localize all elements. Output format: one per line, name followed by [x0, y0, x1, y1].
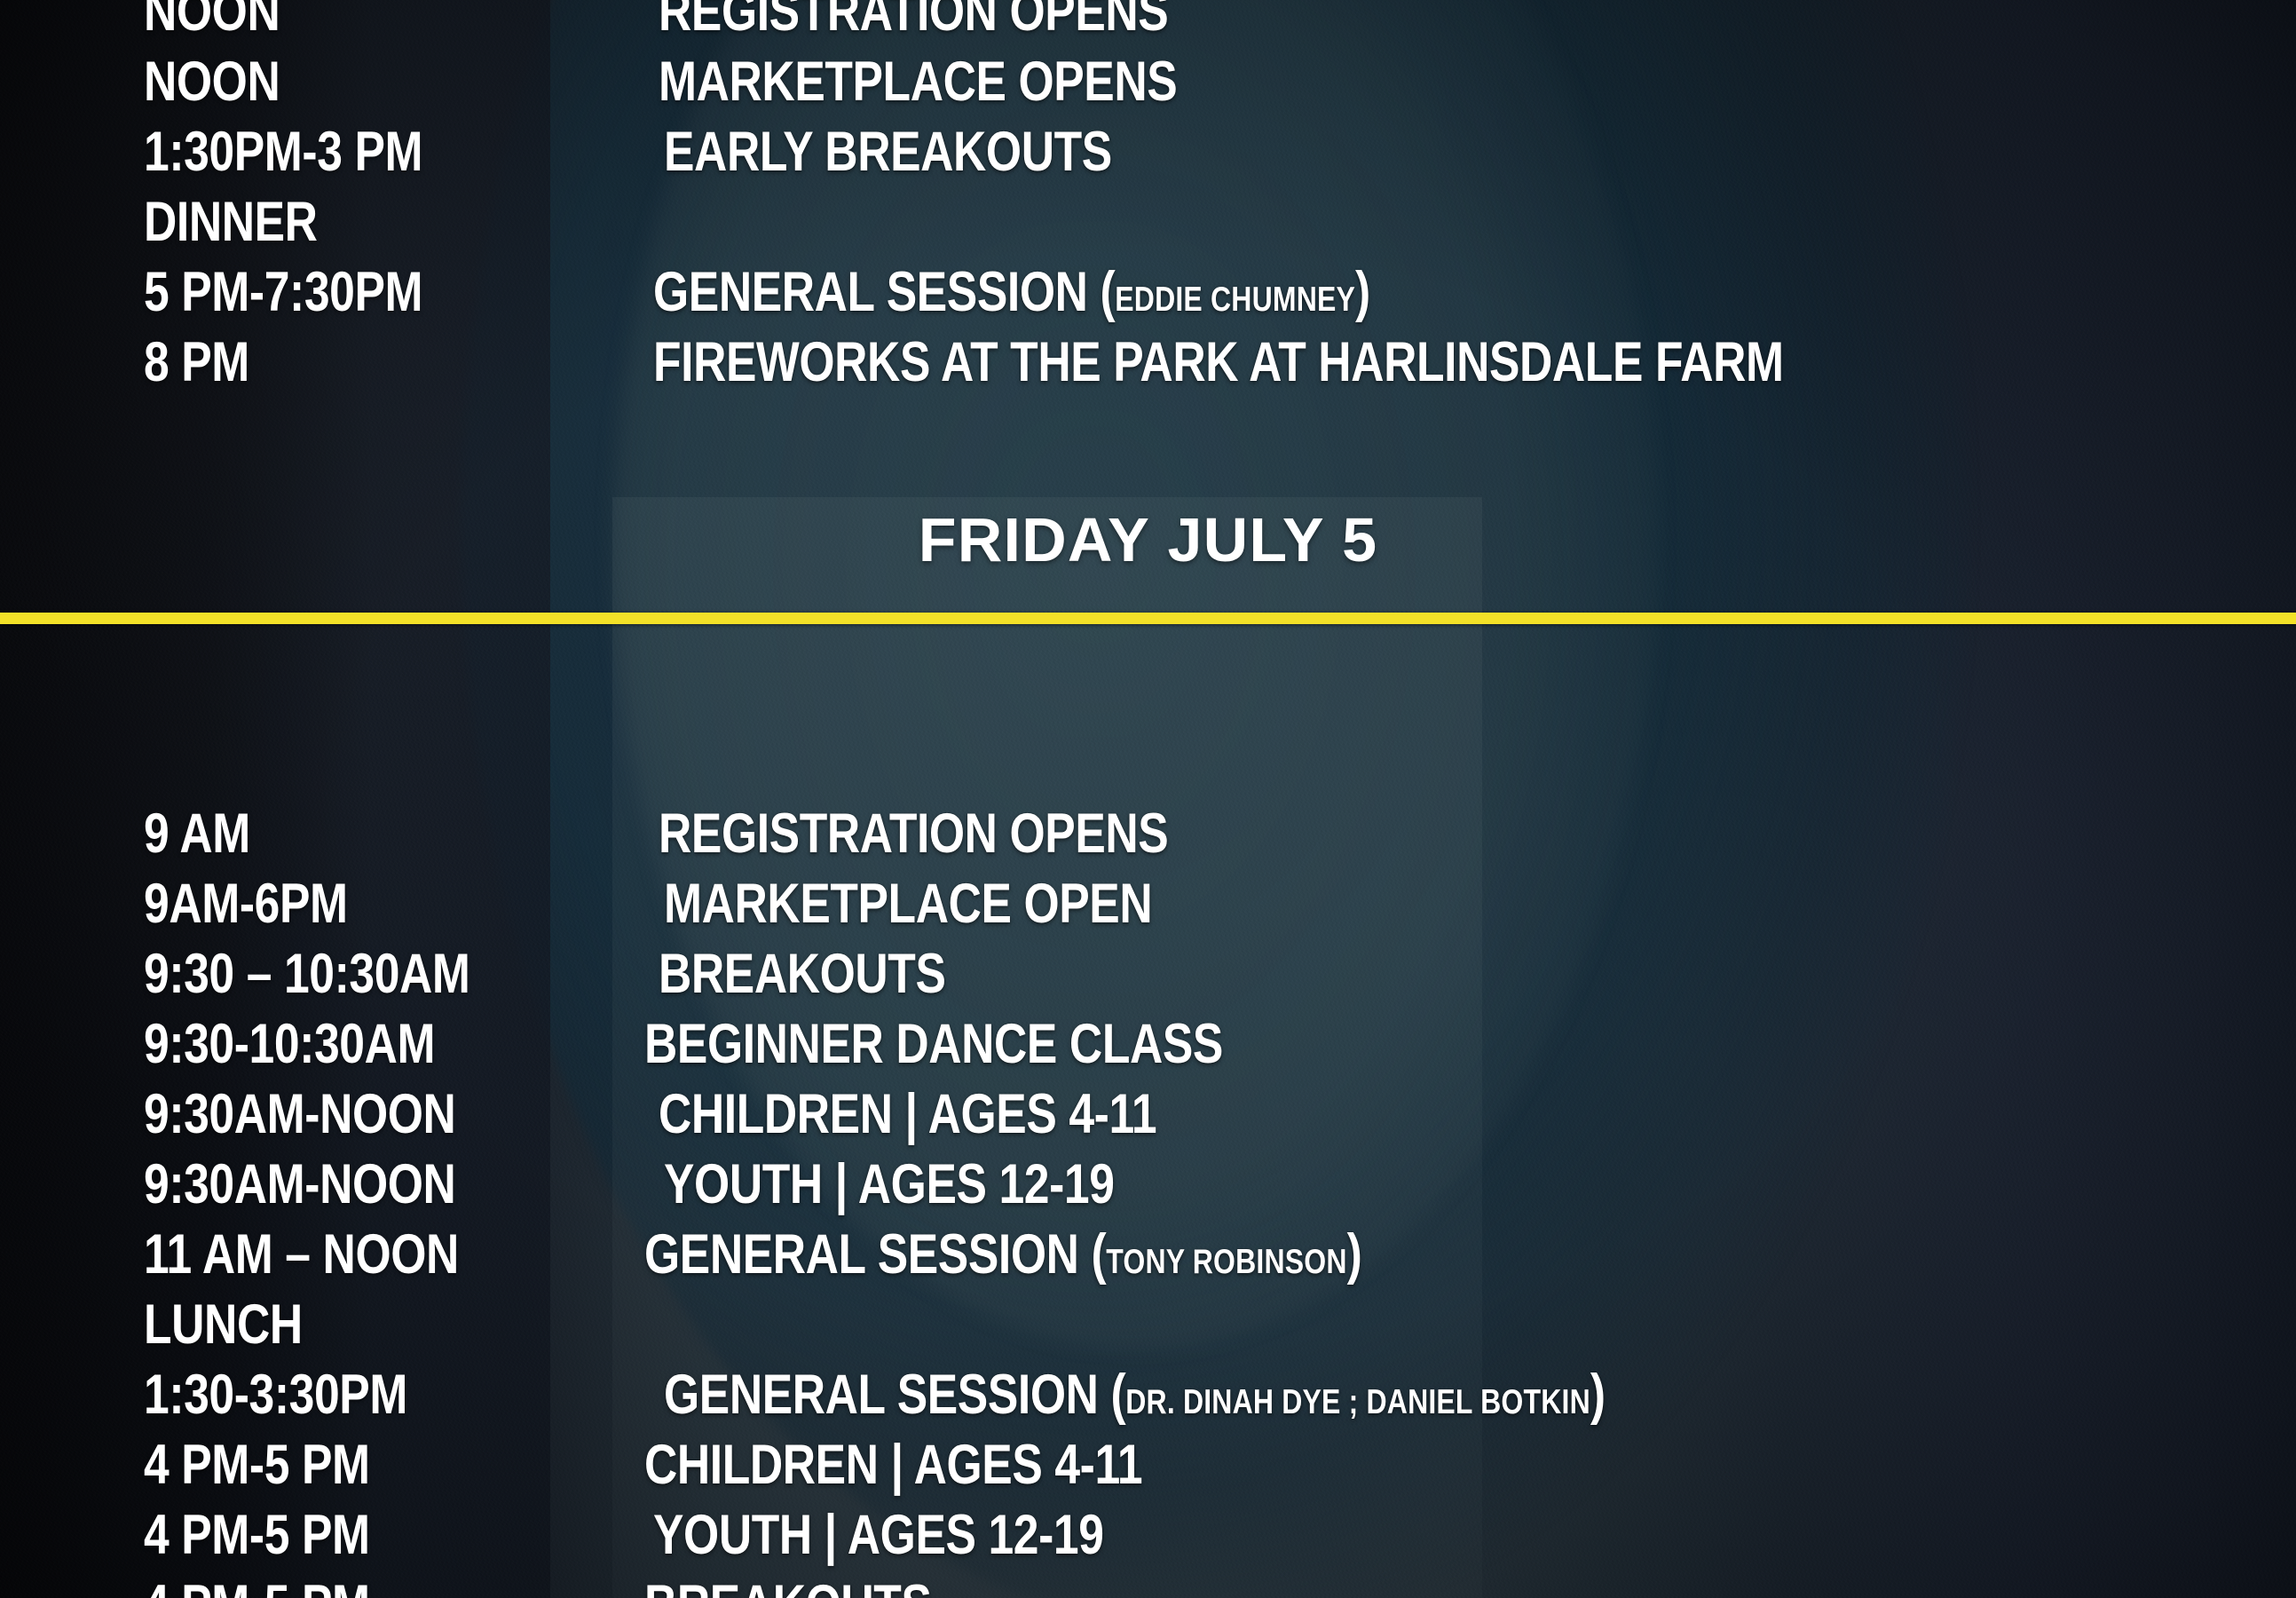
poster-content: NOON REGISTRATION OPENS NOON MARKETPLACE… — [0, 0, 2296, 1598]
schedule-row-speaker: TONY ROBINSON — [1106, 1243, 1346, 1281]
schedule-row: NOON MARKETPLACE OPENS — [0, 47, 2296, 117]
schedule-row-event: REGISTRATION OPENS — [659, 799, 1168, 869]
schedule-row: 4 PM-5 PM CHILDREN | AGES 4-11 — [0, 1430, 2296, 1500]
schedule-row-time: 5 PM-7:30PM — [144, 257, 422, 328]
day-header-container: FRIDAY JULY 5 — [0, 502, 2296, 577]
open-paren: ( — [1110, 1364, 1125, 1426]
schedule-row-speaker: EDDIE CHUMNEY — [1115, 281, 1355, 319]
schedule-row-event-label: GENERAL SESSION — [644, 1223, 1091, 1286]
schedule-row-event: BREAKOUTS — [644, 1570, 932, 1598]
schedule-row-event: BEGINNER DANCE CLASS — [644, 1009, 1223, 1080]
schedule-row-time: 4 PM-5 PM — [144, 1570, 370, 1598]
friday-schedule-block: 9 AM REGISTRATION OPENS 9AM-6PM MARKETPL… — [0, 799, 2296, 1598]
schedule-row: NOON REGISTRATION OPENS — [0, 0, 2296, 47]
schedule-row-time: 9 AM — [144, 799, 250, 869]
schedule-row-time: 9:30-10:30AM — [144, 1009, 435, 1080]
schedule-row-time: 1:30-3:30PM — [144, 1360, 407, 1430]
schedule-row: 5 PM-7:30PM GENERAL SESSION (EDDIE CHUMN… — [0, 257, 2296, 328]
schedule-row-event: YOUTH | AGES 12-19 — [664, 1150, 1115, 1220]
close-paren: ) — [1347, 1223, 1362, 1286]
schedule-row-event: GENERAL SESSION (TONY ROBINSON) — [644, 1220, 1361, 1297]
schedule-row: 4 PM-5 PM YOUTH | AGES 12-19 — [0, 1500, 2296, 1570]
schedule-row: 9:30AM-NOON YOUTH | AGES 12-19 — [0, 1150, 2296, 1220]
schedule-row-time: 9:30AM-NOON — [144, 1080, 455, 1150]
schedule-row-time: 4 PM-5 PM — [144, 1430, 370, 1500]
schedule-row-event: CHILDREN | AGES 4-11 — [659, 1080, 1156, 1150]
close-paren: ) — [1355, 261, 1370, 323]
schedule-row-time: NOON — [144, 0, 280, 47]
schedule-row: 1:30-3:30PM GENERAL SESSION (DR. DINAH D… — [0, 1360, 2296, 1430]
schedule-row-event: EARLY BREAKOUTS — [664, 117, 1112, 187]
schedule-row-time: DINNER — [144, 187, 318, 257]
close-paren: ) — [1590, 1364, 1606, 1426]
schedule-row-event: MARKETPLACE OPEN — [664, 869, 1152, 939]
schedule-row-event: BREAKOUTS — [659, 939, 946, 1009]
event-schedule-poster: NOON REGISTRATION OPENS NOON MARKETPLACE… — [0, 0, 2296, 1598]
schedule-row: 9:30AM-NOON CHILDREN | AGES 4-11 — [0, 1080, 2296, 1150]
schedule-row: 11 AM – NOON GENERAL SESSION (TONY ROBIN… — [0, 1220, 2296, 1290]
schedule-row-event-label: GENERAL SESSION — [664, 1364, 1110, 1426]
schedule-row-time: 9:30 – 10:30AM — [144, 939, 470, 1009]
day-header-title: FRIDAY JULY 5 — [919, 502, 1378, 577]
schedule-row-speaker: DR. DINAH DYE ; DANIEL BOTKIN — [1125, 1383, 1590, 1421]
thursday-schedule-block: NOON REGISTRATION OPENS NOON MARKETPLACE… — [0, 0, 2296, 398]
schedule-row-event: FIREWORKS AT THE PARK AT HARLINSDALE FAR… — [653, 328, 1784, 398]
schedule-row-time: 1:30PM-3 PM — [144, 117, 422, 187]
schedule-row-event: GENERAL SESSION (EDDIE CHUMNEY) — [653, 257, 1370, 335]
schedule-row-time: 9AM-6PM — [144, 869, 348, 939]
schedule-row-time: NOON — [144, 47, 280, 117]
schedule-row: 1:30PM-3 PM EARLY BREAKOUTS — [0, 117, 2296, 187]
schedule-row-event: MARKETPLACE OPENS — [659, 47, 1177, 117]
schedule-row: LUNCH — [0, 1290, 2296, 1360]
schedule-row: 9 AM REGISTRATION OPENS — [0, 799, 2296, 869]
open-paren: ( — [1091, 1223, 1106, 1286]
schedule-row: 8 PM FIREWORKS AT THE PARK AT HARLINSDAL… — [0, 328, 2296, 398]
schedule-row-time: 11 AM – NOON — [144, 1220, 459, 1290]
schedule-row-event-label: GENERAL SESSION — [653, 261, 1100, 323]
schedule-row: 9:30 – 10:30AM BREAKOUTS — [0, 939, 2296, 1009]
schedule-row-event: GENERAL SESSION (DR. DINAH DYE ; DANIEL … — [664, 1360, 1606, 1437]
schedule-row-time: 8 PM — [144, 328, 249, 398]
schedule-row-time: 4 PM-5 PM — [144, 1500, 370, 1570]
schedule-row-time: LUNCH — [144, 1290, 303, 1360]
schedule-row: DINNER — [0, 187, 2296, 257]
schedule-row-event: REGISTRATION OPENS — [659, 0, 1168, 47]
day-divider-rule — [0, 613, 2296, 624]
schedule-row: 9AM-6PM MARKETPLACE OPEN — [0, 869, 2296, 939]
schedule-row-event: CHILDREN | AGES 4-11 — [644, 1430, 1142, 1500]
schedule-row-event: YOUTH | AGES 12-19 — [653, 1500, 1104, 1570]
open-paren: ( — [1100, 261, 1115, 323]
schedule-row: 9:30-10:30AM BEGINNER DANCE CLASS — [0, 1009, 2296, 1080]
schedule-row-time: 9:30AM-NOON — [144, 1150, 455, 1220]
schedule-row: 4 PM-5 PM BREAKOUTS — [0, 1570, 2296, 1598]
